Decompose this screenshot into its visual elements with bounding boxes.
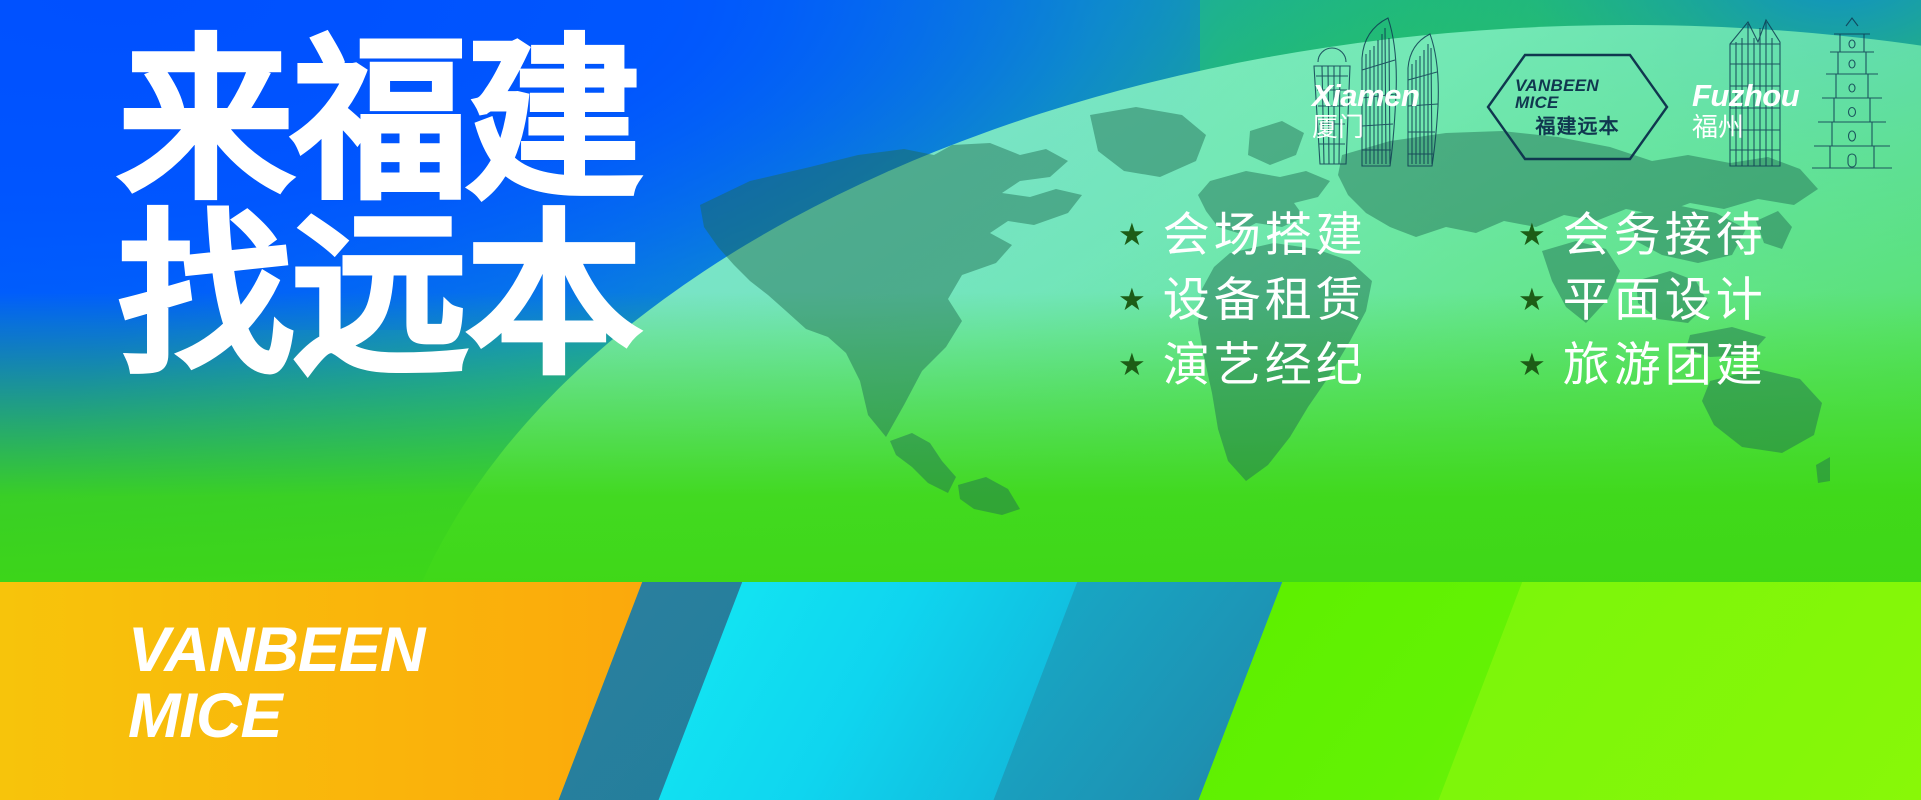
- service-item: ★ 平面设计: [1518, 277, 1908, 324]
- city-label-fuzhou: Fuzhou 福州: [1692, 80, 1799, 144]
- page-title: 来福建 找远本: [118, 38, 738, 382]
- service-item: ★ 会场搭建: [1118, 212, 1508, 259]
- badge-en-line-2: MICE: [1515, 94, 1559, 112]
- badge-cn-label: 福建远本: [1536, 115, 1620, 137]
- main-panel: 来福建 找远本: [0, 0, 1921, 582]
- service-item: ★ 设备租赁: [1118, 277, 1508, 324]
- service-label: 平面设计: [1563, 277, 1767, 324]
- footer-bar: VANBEEN MICE: [0, 582, 1921, 800]
- services-list: ★ 会场搭建 ★ 会务接待 ★ 设备租赁 ★ 平面设计 ★ 演艺经纪 ★ 旅游团…: [1118, 212, 1908, 389]
- service-label: 会务接待: [1563, 212, 1767, 259]
- star-icon: ★: [1118, 220, 1146, 251]
- city-name-cn-fuzhou: 福州: [1692, 114, 1799, 144]
- city-label-xiamen: Xiamen 厦门: [1312, 80, 1419, 144]
- city-name-en-xiamen: Xiamen: [1312, 80, 1419, 111]
- vanbeen-mice-wordmark: VANBEEN MICE: [128, 620, 424, 747]
- star-icon: ★: [1518, 220, 1546, 251]
- service-item: ★ 旅游团建: [1518, 342, 1908, 389]
- star-icon: ★: [1118, 350, 1146, 381]
- headline-line-1: 来福建: [118, 38, 738, 207]
- service-label: 会场搭建: [1163, 212, 1367, 259]
- badge-en-line-1: VANBEEN: [1515, 77, 1599, 94]
- promotional-banner: 来福建 找远本: [0, 0, 1921, 800]
- service-label: 设备租赁: [1163, 277, 1367, 324]
- service-label: 演艺经纪: [1163, 342, 1367, 389]
- service-item: ★ 会务接待: [1518, 212, 1908, 259]
- vanbeen-hexagon-badge: VANBEEN MICE 福建远本: [1485, 52, 1670, 162]
- star-icon: ★: [1118, 285, 1146, 316]
- star-icon: ★: [1518, 350, 1546, 381]
- service-item: ★ 演艺经纪: [1118, 342, 1508, 389]
- city-name-cn-xiamen: 厦门: [1312, 114, 1419, 144]
- service-label: 旅游团建: [1563, 342, 1767, 389]
- wordmark-line-1: VANBEEN: [128, 615, 424, 685]
- city-landmark-strip: VANBEEN MICE 福建远本 Xiamen 厦门 Fuzhou 福州: [1300, 8, 1910, 168]
- city-name-en-fuzhou: Fuzhou: [1692, 80, 1799, 111]
- star-icon: ★: [1518, 285, 1546, 316]
- wordmark-line-2: MICE: [128, 686, 424, 746]
- headline-line-2: 找远本: [118, 213, 738, 382]
